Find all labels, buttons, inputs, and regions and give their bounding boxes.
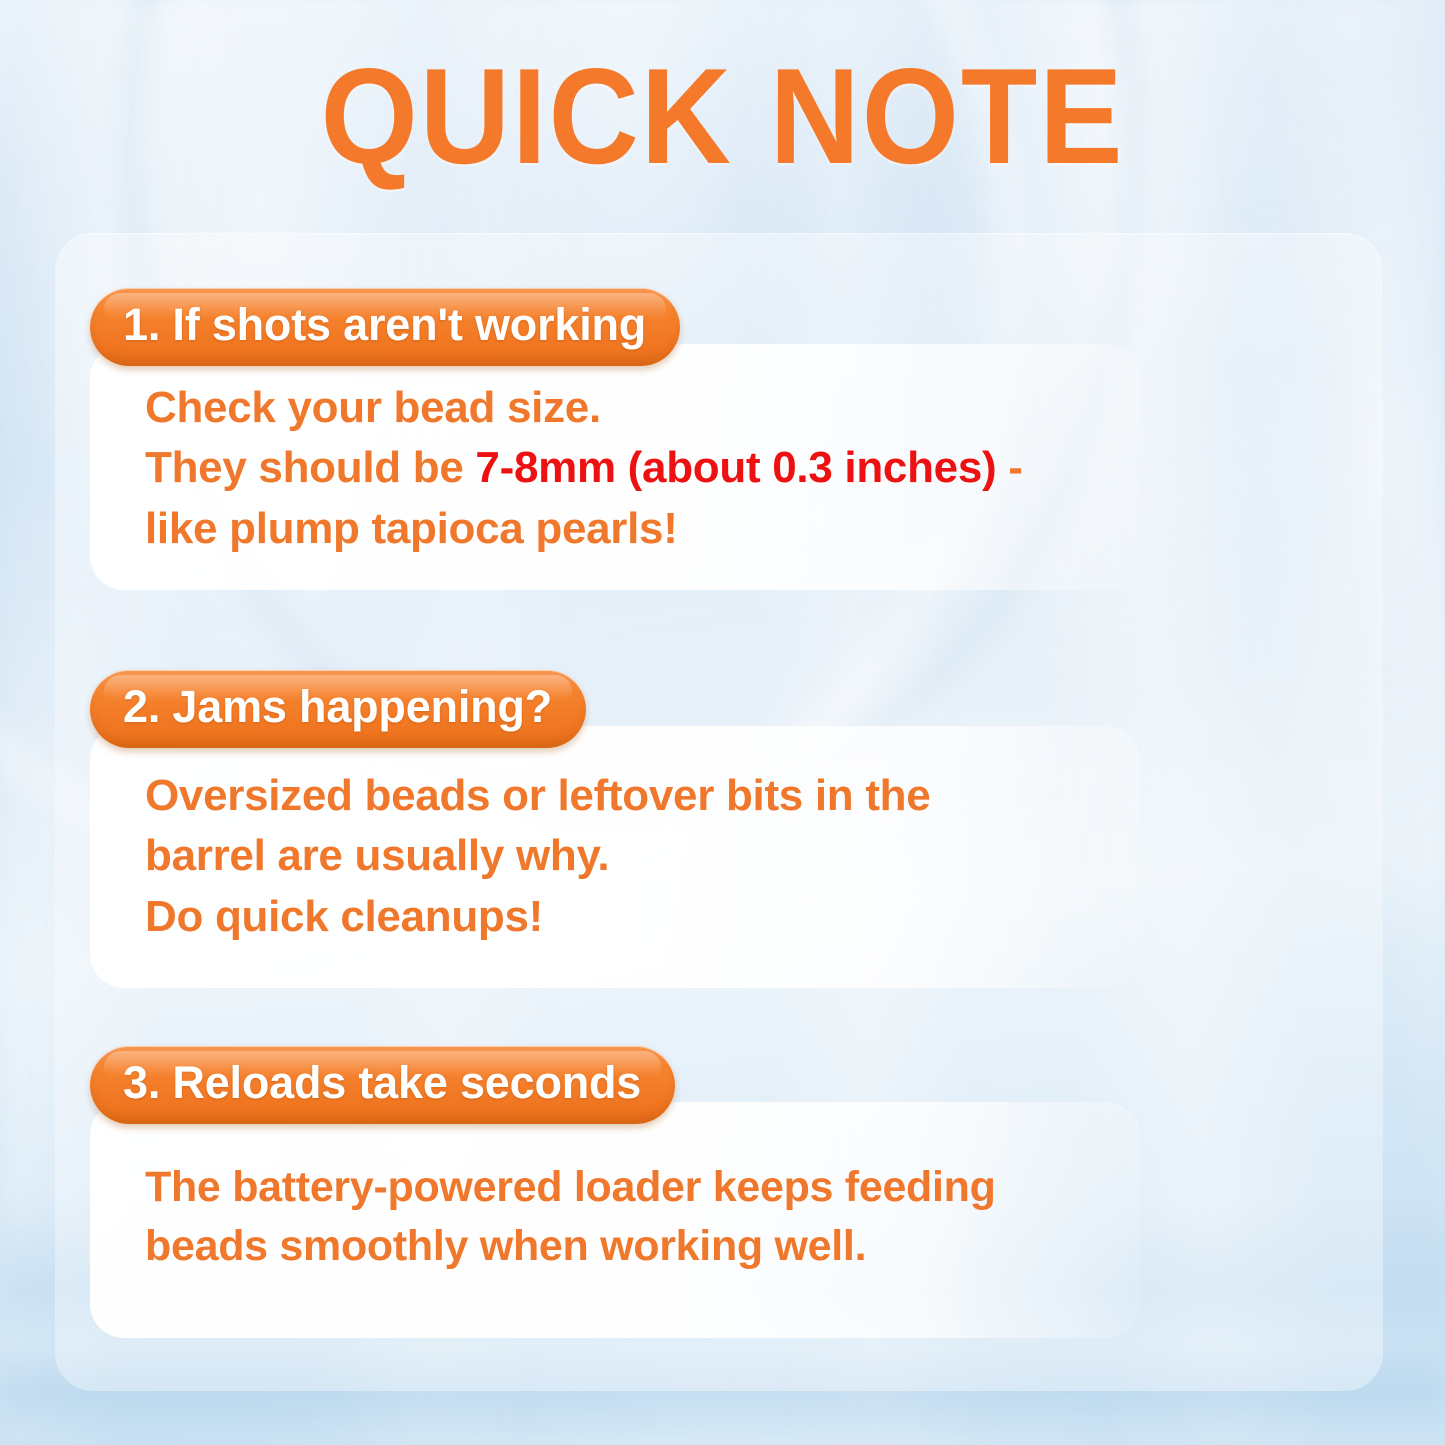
section-2-line-1: Oversized beads or leftover bits in the: [90, 766, 1140, 827]
section-3-body-card: The battery-powered loader keeps feeding…: [90, 1102, 1140, 1339]
section-2-line-2: barrel are usually why.: [90, 826, 1140, 887]
section-3-heading: 3. Reloads take seconds: [90, 1046, 675, 1124]
section-2-body-card: Oversized beads or leftover bits in the …: [90, 726, 1140, 988]
content-panel: 1. If shots aren't working Check your be…: [55, 233, 1383, 1391]
section-1: 1. If shots aren't working Check your be…: [55, 288, 1383, 590]
section-1-line-3: like plump tapioca pearls!: [90, 499, 1140, 560]
section-1-line-1-text: Check your bead size.: [145, 383, 601, 432]
section-1-line-2-trail: -: [996, 443, 1022, 492]
quick-note-poster: QUICK NOTE 1. If shots aren't working Ch…: [0, 0, 1445, 1445]
section-1-line-2-lead: They should be: [145, 443, 475, 492]
section-3-line-2: beads smoothly when working well.: [90, 1217, 1140, 1276]
section-1-line-2: They should be 7-8mm (about 0.3 inches) …: [90, 438, 1140, 499]
section-1-line-1: Check your bead size.: [90, 378, 1140, 439]
section-2: 2. Jams happening? Oversized beads or le…: [55, 670, 1383, 988]
section-3-line-2-text: beads smoothly when working well.: [145, 1222, 866, 1270]
section-1-body-card: Check your bead size. They should be 7-8…: [90, 344, 1140, 590]
section-2-line-1-text: Oversized beads or leftover bits in the: [145, 771, 930, 820]
section-2-line-3-text: Do quick cleanups!: [145, 892, 543, 941]
section-2-heading: 2. Jams happening?: [90, 670, 586, 748]
section-1-line-3-text: like plump tapioca pearls!: [145, 504, 678, 553]
section-2-line-2-text: barrel are usually why.: [145, 831, 609, 880]
page-title: QUICK NOTE: [58, 48, 1387, 184]
section-1-line-2-highlight: 7-8mm (about 0.3 inches): [475, 443, 996, 492]
section-3-line-1: The battery-powered loader keeps feeding: [90, 1158, 1140, 1217]
section-3-line-1-text: The battery-powered loader keeps feeding: [145, 1163, 996, 1211]
section-2-line-3: Do quick cleanups!: [90, 887, 1140, 948]
section-1-heading: 1. If shots aren't working: [90, 288, 680, 366]
section-3: 3. Reloads take seconds The battery-powe…: [55, 1046, 1383, 1338]
